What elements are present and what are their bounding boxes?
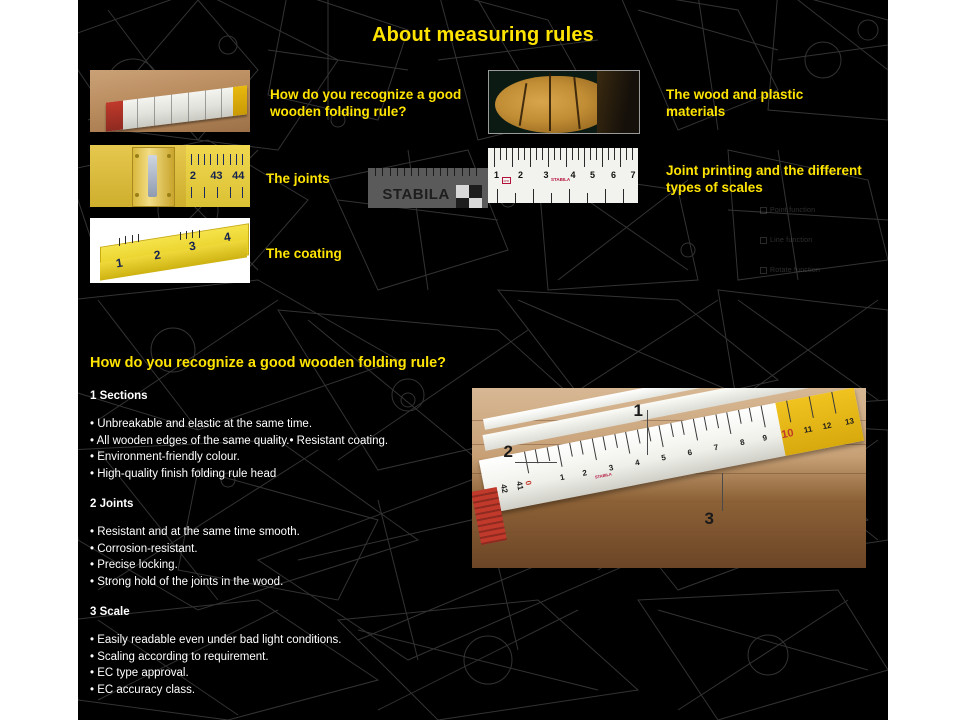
thumb-yellow-coating[interactable]: 1 2 3 4 bbox=[90, 218, 250, 283]
stabila-wordmark: STABILA bbox=[382, 186, 449, 203]
white-scale-number-7: 7 bbox=[631, 170, 636, 180]
trunk-disc-graphic bbox=[495, 76, 612, 133]
yellow-number-1: 1 bbox=[115, 255, 124, 270]
section-bullets-1: Unbreakable and elastic at the same time… bbox=[90, 416, 480, 482]
caption-joint-printing-scales[interactable]: Joint printing and the different types o… bbox=[666, 162, 866, 196]
content-heading: How do you recognize a good wooden foldi… bbox=[90, 355, 446, 371]
trunk-bark-graphic bbox=[597, 71, 639, 133]
white-scale-number-2: 2 bbox=[518, 170, 523, 180]
section-bullets-3: Easily readable even under bad light con… bbox=[90, 632, 480, 698]
white-scale-number-1: 1 bbox=[494, 170, 499, 180]
callout-1: 1 bbox=[634, 401, 643, 421]
white-scale-number-3: 3 bbox=[544, 170, 549, 180]
background-faint-labels: Point function Line function Rotate func… bbox=[760, 196, 870, 286]
main-scale-number-2: 2 bbox=[582, 468, 588, 478]
main-scale-number-4: 4 bbox=[634, 458, 640, 468]
list-item: Scaling according to requirement. bbox=[90, 649, 480, 665]
main-scale-number-7: 7 bbox=[713, 443, 719, 453]
callout-2: 2 bbox=[504, 442, 513, 462]
content-body: 1 Sections Unbreakable and elastic at th… bbox=[90, 388, 480, 698]
list-item: Strong hold of the joints in the wood. bbox=[90, 574, 480, 590]
list-item: Precise locking. bbox=[90, 557, 480, 573]
list-item: EC type approval. bbox=[90, 665, 480, 681]
stabila-checker-mark bbox=[456, 185, 482, 208]
caption-wood-and-plastic[interactable]: The wood and plastic materials bbox=[666, 86, 866, 120]
list-item: Easily readable even under bad light con… bbox=[90, 632, 480, 648]
list-item: EC accuracy class. bbox=[90, 682, 480, 698]
main-scale-number-13: 13 bbox=[844, 416, 854, 427]
stabila-logo: STABILA bbox=[368, 168, 488, 208]
faint-label-2: Line function bbox=[770, 237, 812, 244]
white-scale-number-5: 5 bbox=[590, 170, 595, 180]
main-scale-number-0: 0 bbox=[523, 480, 533, 486]
section-bullets-2: Resistant and at the same time smooth. C… bbox=[90, 524, 480, 590]
scale-brand-print: STABILA bbox=[551, 177, 570, 182]
main-scale-number-11: 11 bbox=[803, 424, 813, 434]
main-scale-number-8: 8 bbox=[739, 438, 745, 448]
section-title-1: 1 Sections bbox=[90, 388, 480, 404]
thumb-brass-joint[interactable]: 2 43 44 bbox=[90, 145, 250, 207]
main-scale-number-12: 12 bbox=[822, 421, 832, 432]
list-item: Resistant and at the same time smooth. bbox=[90, 524, 480, 540]
white-scale-number-4: 4 bbox=[571, 170, 576, 180]
main-scale-number-42: 42 bbox=[499, 483, 510, 493]
logo-ruler-ticks bbox=[368, 168, 488, 179]
thumb-folded-folding-rule[interactable] bbox=[90, 70, 250, 132]
list-item: Corrosion-resistant. bbox=[90, 541, 480, 557]
joint-pin-graphic bbox=[148, 155, 158, 197]
main-scale-number-5: 5 bbox=[660, 453, 666, 463]
folded-rule-graphic bbox=[106, 85, 247, 131]
list-item: High-quality finish folding rule head bbox=[90, 466, 480, 482]
faint-label-1: Point function bbox=[770, 207, 815, 214]
main-scale-number-1: 1 bbox=[559, 473, 565, 483]
joint-scale-graphic: 2 43 44 bbox=[186, 145, 250, 207]
joint-number-3: 44 bbox=[232, 170, 244, 182]
white-scale-number-6: 6 bbox=[611, 170, 616, 180]
caption-the-joints[interactable]: The joints bbox=[266, 170, 330, 187]
list-item: Unbreakable and elastic at the same time… bbox=[90, 416, 480, 432]
main-scale-number-10: 10 bbox=[780, 427, 794, 441]
yellow-end-cap bbox=[233, 85, 247, 115]
slide-canvas: Point function Line function Rotate func… bbox=[78, 0, 888, 720]
main-scale-number-9: 9 bbox=[762, 433, 768, 443]
main-scale-number-6: 6 bbox=[687, 448, 693, 458]
joint-number-1: 2 bbox=[190, 170, 196, 182]
page-title: About measuring rules bbox=[78, 24, 888, 47]
cm-mark: cm bbox=[502, 177, 511, 184]
thumb-white-scale[interactable]: 1 cm 2 3 STABILA 4 5 6 7 bbox=[488, 148, 638, 203]
main-scale-brand: STABILA bbox=[594, 471, 612, 479]
list-item: Environment-friendly colour. bbox=[90, 449, 480, 465]
thumb-tree-trunk-section[interactable] bbox=[488, 70, 640, 134]
caption-recognize-good-rule[interactable]: How do you recognize a good wooden foldi… bbox=[270, 86, 485, 120]
faint-label-3: Rotate function bbox=[770, 267, 820, 274]
section-title-2: 2 Joints bbox=[90, 496, 480, 512]
section-title-3: 3 Scale bbox=[90, 604, 480, 620]
red-end-cap bbox=[106, 100, 123, 131]
list-item: All wooden edges of the same quality.• R… bbox=[90, 433, 480, 449]
callout-3: 3 bbox=[704, 509, 713, 529]
joint-number-2: 43 bbox=[210, 170, 222, 182]
main-photo-folding-rule[interactable]: 42 41 0 1 2 3 4 5 6 7 8 9 10 11 12 13 ST… bbox=[472, 388, 866, 568]
caption-the-coating[interactable]: The coating bbox=[266, 245, 342, 262]
